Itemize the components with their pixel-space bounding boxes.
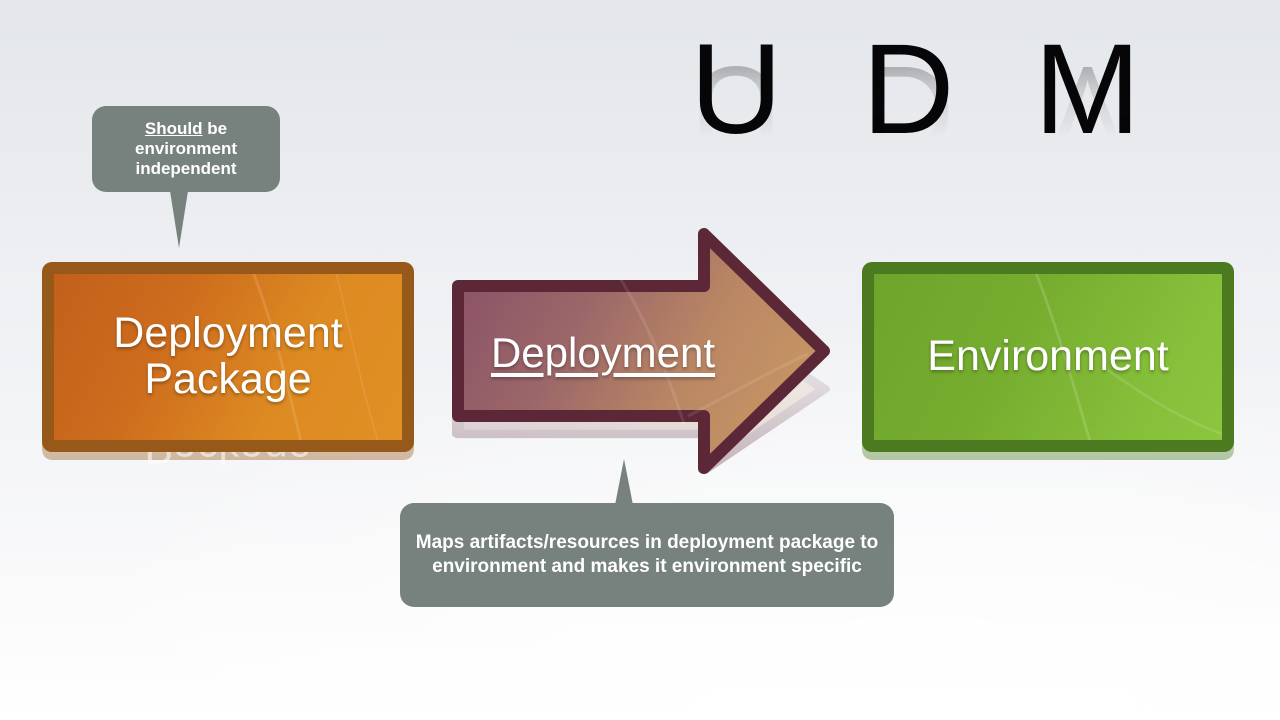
- environment-label: Environment: [913, 334, 1182, 380]
- callout-package-note[interactable]: Should be environment independent: [92, 106, 280, 192]
- callout-package-text: Should be environment independent: [92, 113, 280, 184]
- deployment-package-box[interactable]: Deployment Package: [42, 262, 414, 452]
- page-title-reflection: U D M: [690, 46, 1163, 174]
- deployment-arrow-label: Deployment: [491, 329, 715, 377]
- package-label-line1: Deployment: [113, 309, 342, 357]
- callout-deployment-note[interactable]: Maps artifacts/resources in deployment p…: [400, 503, 894, 607]
- callout-package-tail: [170, 191, 188, 248]
- slide-title-group: U D M U D M: [690, 26, 1190, 256]
- package-label-line2: Package: [144, 355, 311, 403]
- callout-deployment-text: Maps artifacts/resources in deployment p…: [400, 525, 894, 586]
- deployment-package-label: Deployment Package: [99, 311, 356, 402]
- callout-package-emphasis: Should: [145, 119, 203, 138]
- callout-deployment-tail: [615, 459, 633, 505]
- slide-canvas: U D M U D M Package: [0, 0, 1280, 720]
- deployment-arrow[interactable]: Deployment: [452, 228, 830, 474]
- environment-box[interactable]: Environment: [862, 262, 1234, 452]
